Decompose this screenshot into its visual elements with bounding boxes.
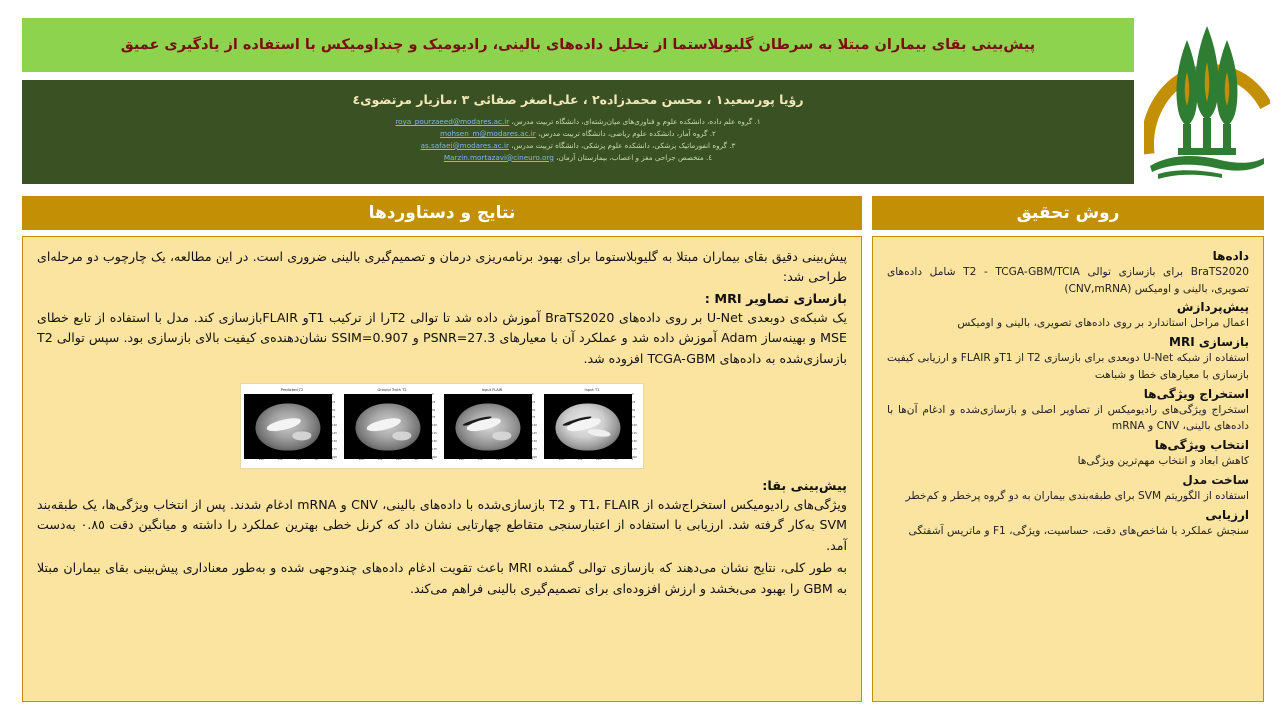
results-paragraph-conclusion: به طور کلی، نتایج نشان می‌دهند که بازساز… — [37, 558, 847, 599]
affiliation-4-index: ٤ — [708, 153, 712, 162]
section-header-results: نتایج و دستاوردها — [22, 196, 862, 230]
results-paragraph-mri: یک شبکه‌ی دوبعدی U-Net بر روی داده‌های B… — [37, 308, 847, 369]
method-title-feature-extraction: استخراج ویژگی‌ها — [887, 387, 1249, 401]
mri-image-t1 — [544, 394, 632, 459]
mri-subplot-input-flair: Input FLAIR 02550 75100125 150175200 — [444, 387, 540, 465]
results-intro: پیش‌بینی دقیق بقای بیماران مبتلا به گلیو… — [37, 247, 847, 288]
mri-subplot-ground-truth-t2: Ground Truth T2 02550 75100125 150175200… — [344, 387, 440, 465]
affiliation-1-text: . گروه علم داده، دانشکده علوم و فناوری‌ه… — [512, 117, 757, 126]
affiliation-2-text: . گروه آمار، دانشکده علوم ریاضی، دانشگاه… — [538, 129, 712, 138]
affiliation-4: ٤. متخصص جراحی مغز و اعصاب، بیمارستان آر… — [22, 152, 1134, 164]
method-title-evaluation: ارزیابی — [887, 508, 1249, 522]
affiliation-3-email[interactable]: as.safaei@modares.ac.ir — [421, 140, 509, 152]
method-body-feature-selection: کاهش ابعاد و انتخاب مهم‌ترین ویژگی‌ها — [887, 453, 1249, 470]
mri-subplot-caption-4: Predicted T2 — [281, 387, 304, 394]
mri-xaxis-3: 050100 150200 — [344, 459, 440, 465]
affiliation-4-text: . متخصص جراحی مغز و اعصاب، بیمارستان آرم… — [556, 153, 708, 162]
affiliation-2-email[interactable]: mohsen_m@modares.ac.ir — [440, 128, 536, 140]
method-body-evaluation: سنجش عملکرد با شاخص‌های دقت، حساسیت، ویژ… — [887, 523, 1249, 540]
page-title: پیش‌بینی بقای بیماران مبتلا به سرطان گلی… — [103, 36, 1053, 54]
affiliation-3-text: . گروه انفورماتیک پزشکی، دانشکده علوم پز… — [511, 141, 731, 150]
results-paragraph-survival: ویژگی‌های رادیومیکس استخراج‌شده از T1، F… — [37, 495, 847, 556]
affiliation-4-email[interactable]: Marzin.mortazavi@cineuro.org — [444, 152, 554, 164]
poster-root: پیش‌بینی بقای بیماران مبتلا به سرطان گلی… — [0, 0, 1280, 720]
affiliation-1: ١. گروه علم داده، دانشکده علوم و فناوری‌… — [22, 116, 1134, 128]
method-title-preprocessing: پیش‌پردازش — [887, 300, 1249, 314]
mri-xaxis-2: 050100 150200 — [444, 459, 540, 465]
method-block-preprocessing: پیش‌پردازش اعمال مراحل استاندارد بر روی … — [887, 300, 1249, 332]
method-block-feature-extraction: استخراج ویژگی‌ها استخراج ویژگی‌های رادیو… — [887, 387, 1249, 435]
section-header-method-label: روش تحقیق — [1017, 203, 1120, 223]
mri-yaxis-4: 02550 75100125 150175200 — [332, 394, 340, 459]
mri-image-ground-truth — [344, 394, 432, 459]
results-panel: پیش‌بینی دقیق بقای بیماران مبتلا به گلیو… — [22, 236, 862, 702]
method-panel: داده‌ها BraTS2020 برای بازسازی توالی T2 … — [872, 236, 1264, 702]
results-subheading-mri: بازسازی تصاویر MRI : — [37, 292, 847, 307]
method-title-model-building: ساخت مدل — [887, 473, 1249, 487]
poster-title-band: پیش‌بینی بقای بیماران مبتلا به سرطان گلی… — [22, 18, 1134, 72]
affiliation-2-index: ٢ — [712, 129, 716, 138]
method-title-feature-selection: انتخاب ویژگی‌ها — [887, 438, 1249, 452]
method-block-feature-selection: انتخاب ویژگی‌ها کاهش ابعاد و انتخاب مهم‌… — [887, 438, 1249, 470]
method-title-mri-reconstruction: بازسازی MRI — [887, 335, 1249, 349]
affiliation-1-email[interactable]: roya_pourzaeed@modares.ac.ir — [395, 116, 509, 128]
method-block-evaluation: ارزیابی سنجش عملکرد با شاخص‌های دقت، حسا… — [887, 508, 1249, 540]
mri-yaxis-2: 02550 75100125 150175200 — [532, 394, 540, 459]
mri-subplot-caption-3: Ground Truth T2 — [377, 387, 406, 394]
mri-subplot-caption-1: Input T1 — [585, 387, 600, 394]
affiliation-3-index: ٣ — [732, 141, 736, 150]
mri-yaxis-1: 02550 75100125 150175200 — [632, 394, 640, 459]
mri-image-predicted — [244, 394, 332, 459]
method-body-model-building: استفاده از الگوریتم SVM برای طبقه‌بندی ب… — [887, 488, 1249, 505]
mri-xaxis-4: 050100 150200 — [244, 459, 340, 465]
affiliation-1-index: ١ — [757, 117, 761, 126]
method-title-data: داده‌ها — [887, 249, 1249, 263]
method-body-mri-reconstruction: استفاده از شبکه U-Net دوبعدی برای بازساز… — [887, 350, 1249, 383]
section-header-results-label: نتایج و دستاوردها — [369, 203, 516, 223]
author-band: رؤیا پورسعید١ ، محسن محمدزاده٢ ، علی‌اصغ… — [22, 80, 1134, 184]
mri-xaxis-1: 050100 150200 — [544, 459, 640, 465]
mri-subplot-input-t1: Input T1 02550 75100125 150175200 — [544, 387, 640, 465]
university-logo — [1144, 14, 1270, 190]
mri-subplot-predicted-t2: Predicted T2 02550 75100125 150175200 05… — [244, 387, 340, 465]
mri-figure: Input T1 02550 75100125 150175200 — [240, 383, 644, 469]
method-block-model-building: ساخت مدل استفاده از الگوریتم SVM برای طب… — [887, 473, 1249, 505]
mri-image-flair — [444, 394, 532, 459]
affiliation-2: ٢. گروه آمار، دانشکده علوم ریاضی، دانشگا… — [22, 128, 1134, 140]
affiliation-3: ٣. گروه انفورماتیک پزشکی، دانشکده علوم پ… — [22, 140, 1134, 152]
method-body-data: BraTS2020 برای بازسازی توالی T2 - TCGA-G… — [887, 264, 1249, 297]
mri-yaxis-3: 02550 75100125 150175200 — [432, 394, 440, 459]
method-body-feature-extraction: استخراج ویژگی‌های رادیومیکس از تصاویر اص… — [887, 402, 1249, 435]
results-subheading-survival: پیش‌بینی بقا: — [37, 479, 847, 494]
author-list: رؤیا پورسعید١ ، محسن محمدزاده٢ ، علی‌اصغ… — [22, 92, 1134, 107]
method-body-preprocessing: اعمال مراحل استاندارد بر روی داده‌های تص… — [887, 315, 1249, 332]
mri-subplot-caption-2: Input FLAIR — [482, 387, 503, 394]
section-header-method: روش تحقیق — [872, 196, 1264, 230]
method-block-mri-reconstruction: بازسازی MRI استفاده از شبکه U-Net دوبعدی… — [887, 335, 1249, 383]
method-block-data: داده‌ها BraTS2020 برای بازسازی توالی T2 … — [887, 249, 1249, 297]
